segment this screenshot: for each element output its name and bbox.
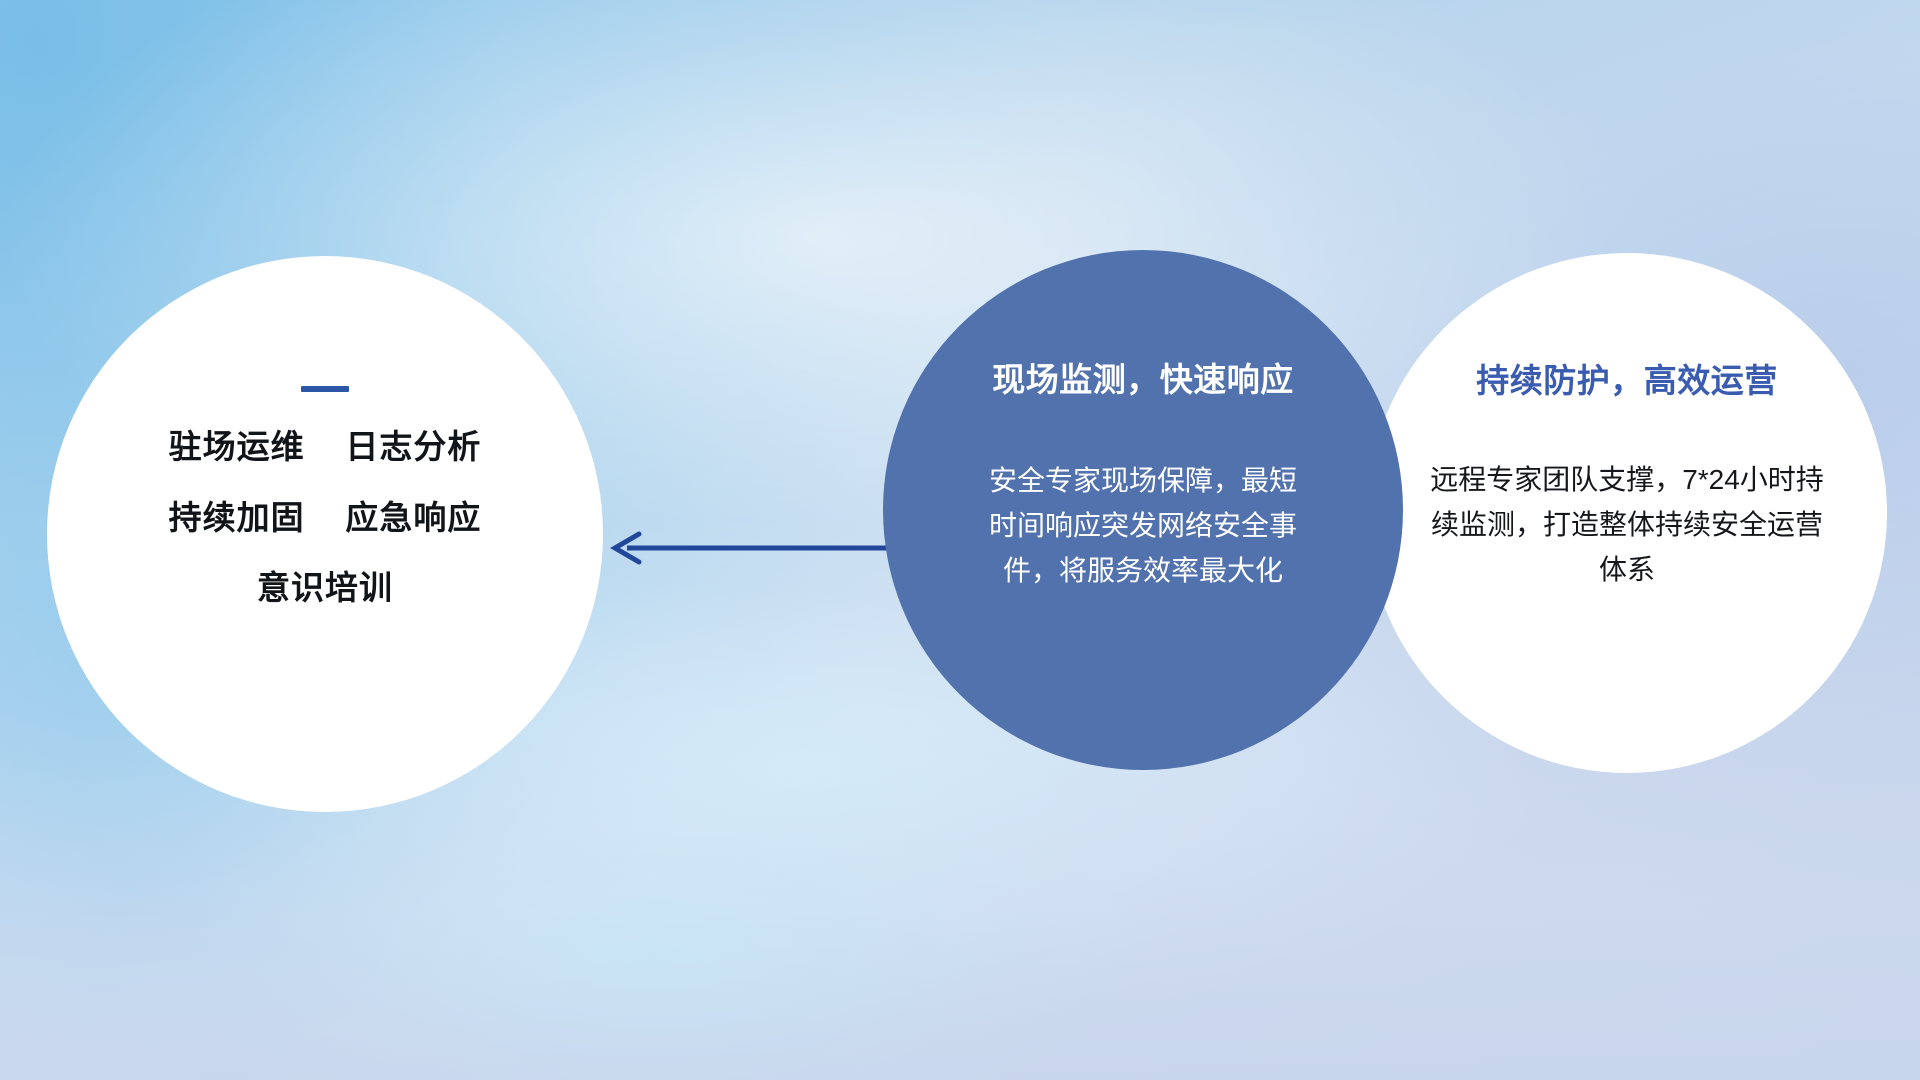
right-service-circle[interactable]: 持续防护，高效运营 远程专家团队支撑，7*24小时持续监测，打造整体持续安全运营… — [1367, 253, 1887, 773]
left-circle-content: 驻场运维 日志分析 持续加固 应急响应 意识培训 — [95, 256, 555, 606]
left-arrow-icon — [605, 520, 895, 576]
right-circle-body: 远程专家团队支撑，7*24小时持续监测，打造整体持续安全运营体系 — [1427, 457, 1827, 593]
middle-circle-title: 现场监测，快速响应 — [928, 360, 1358, 400]
left-circle-line-1: 驻场运维 日志分析 — [95, 430, 555, 465]
middle-circle-content: 现场监测，快速响应 安全专家现场保障，最短时间响应突发网络安全事件，将服务效率最… — [928, 250, 1358, 594]
left-circle-line-2: 持续加固 应急响应 — [95, 501, 555, 536]
left-circle-line-3: 意识培训 — [95, 571, 555, 606]
left-capability-circle[interactable]: 驻场运维 日志分析 持续加固 应急响应 意识培训 — [47, 256, 603, 812]
slide-canvas: 驻场运维 日志分析 持续加固 应急响应 意识培训 持续防护，高效运营 远程专家团… — [0, 0, 1920, 1080]
right-circle-content: 持续防护，高效运营 远程专家团队支撑，7*24小时持续监测，打造整体持续安全运营… — [1407, 253, 1847, 593]
middle-service-circle[interactable]: 现场监测，快速响应 安全专家现场保障，最短时间响应突发网络安全事件，将服务效率最… — [883, 250, 1403, 770]
middle-circle-body: 安全专家现场保障，最短时间响应突发网络安全事件，将服务效率最大化 — [978, 458, 1308, 594]
right-circle-title: 持续防护，高效运营 — [1407, 361, 1847, 401]
horizontal-dash-icon — [301, 386, 349, 392]
